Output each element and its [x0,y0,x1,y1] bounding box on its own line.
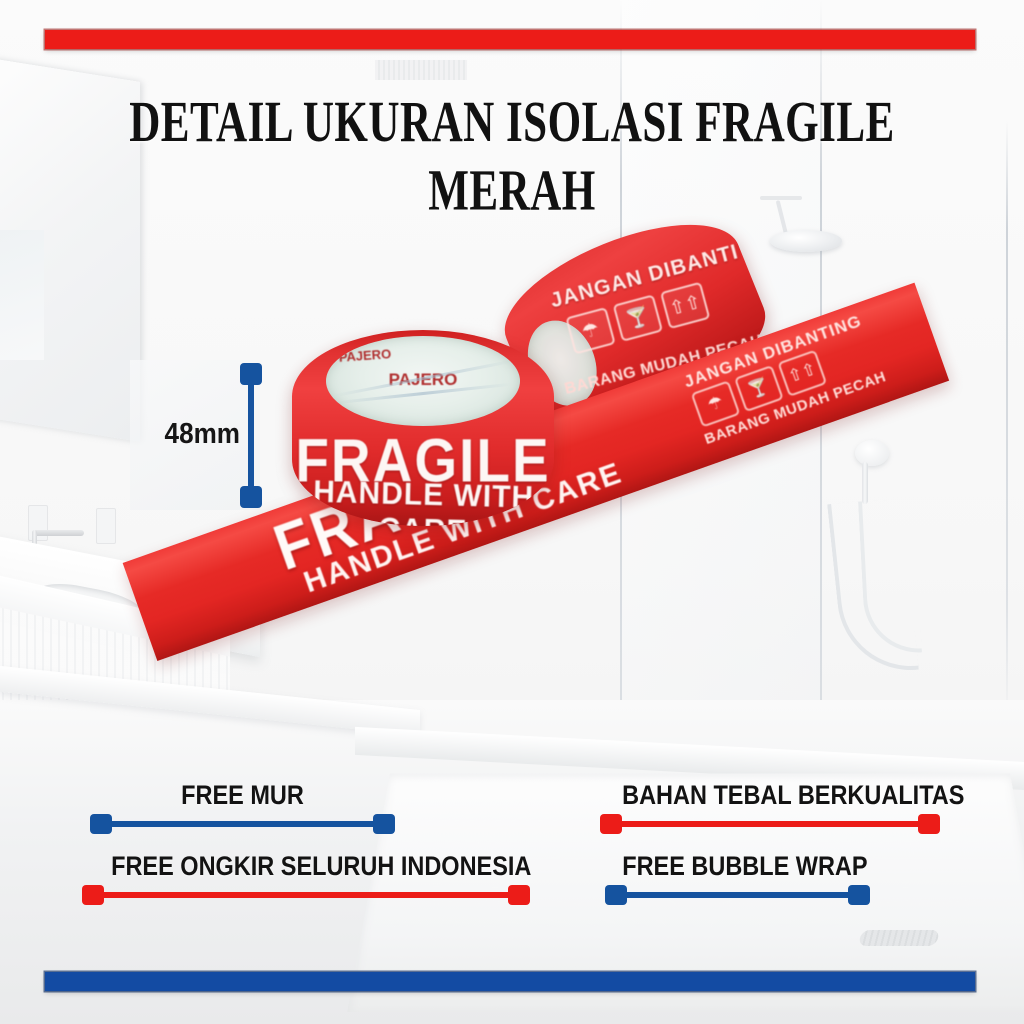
faucet-spout [32,530,84,536]
feature-bahan-tebal-bar [600,814,940,834]
tape-front-handle-text: HANDLE WITH CARE [292,473,554,526]
bottom-accent-bar [45,972,975,991]
page-title: DETAIL UKURAN ISOLASI FRAGILE MERAH [61,88,962,224]
wine-glass-icon: 🍸 [613,295,663,343]
bar-knob-right [373,814,395,834]
bar-line [99,821,386,827]
feature-free-mur-label: FREE MUR [110,780,375,811]
bar-line [614,892,861,898]
feature-free-ongkir-label: FREE ONGKIR SELURUH INDONESIA [111,851,501,882]
feature-free-bubble-wrap-label: FREE BUBBLE WRAP [622,851,853,882]
measure-stem [248,371,254,500]
feature-free-bubble-wrap: FREE BUBBLE WRAP [605,851,870,905]
rain-shower-head-icon [770,230,842,252]
shower-glass-divider-3 [1006,120,1008,724]
feature-free-ongkir-bar [82,885,530,905]
feature-free-mur-bar [90,814,395,834]
tape-width-measure-bar [240,363,262,508]
wall-outlet-right [96,508,116,544]
top-accent-bar [45,30,975,49]
feature-free-mur: FREE MUR [90,780,395,834]
tape-roll-front: PAJERO PAJERO FRAGILE HANDLE WITH CARE [292,330,554,526]
tape-core-brand-1: PAJERO [326,342,462,370]
umbrella-icon: ☂ [565,307,615,355]
tape-roll-front-body: PAJERO PAJERO FRAGILE HANDLE WITH CARE [292,330,554,526]
bar-knob-right [508,885,530,905]
hand-shower-handle [862,462,868,504]
title-line-2: MERAH [61,156,962,224]
tape-roll-front-core: PAJERO PAJERO [326,336,520,426]
feature-bahan-tebal-label: BAHAN TEBAL BERKUALITAS [622,780,918,811]
measure-cap-bottom [240,486,262,508]
bar-knob-right [918,814,940,834]
measure-label: 48mm [159,418,240,451]
product-poster: DETAIL UKURAN ISOLASI FRAGILE MERAH 48mm… [0,0,1024,1024]
bar-knob-right [848,885,870,905]
ceiling-vent [375,60,467,80]
mirror-reflection [0,230,44,360]
hand-shower-head-icon [855,440,889,466]
feature-bahan-tebal-berkualitas: BAHAN TEBAL BERKUALITAS [600,780,940,834]
bar-line [91,892,521,898]
floor-drain-icon [858,930,940,946]
title-line-1: DETAIL UKURAN ISOLASI FRAGILE [61,88,962,156]
feature-free-bubble-wrap-bar [605,885,870,905]
feature-free-ongkir: FREE ONGKIR SELURUH INDONESIA [82,851,530,905]
up-arrows-icon: ⇧⇧ [660,282,710,330]
bar-line [609,821,931,827]
